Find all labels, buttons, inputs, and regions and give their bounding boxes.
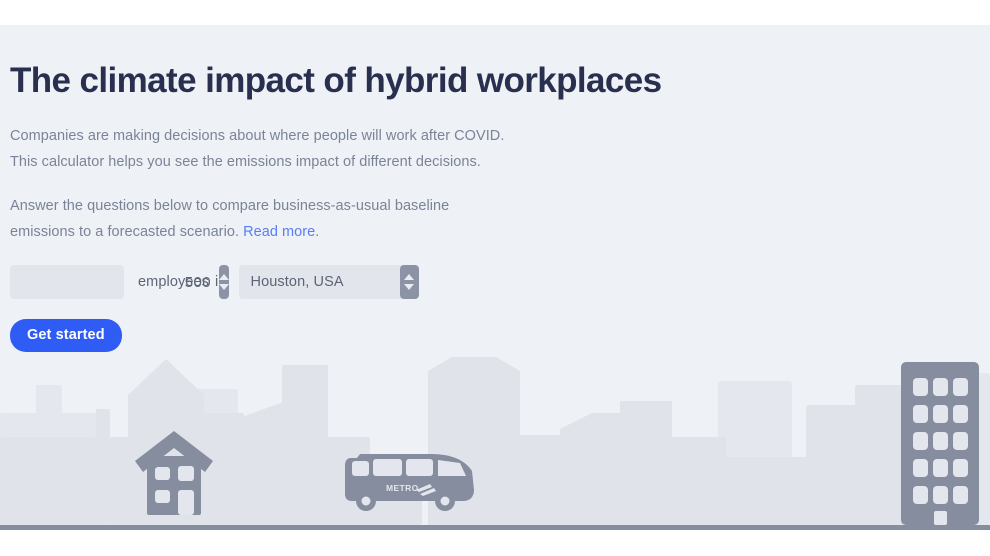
employee-count-field[interactable] [10, 265, 124, 299]
read-more-link[interactable]: Read more [243, 224, 315, 240]
read-more-period: . [315, 224, 319, 240]
caret-down-icon [404, 284, 414, 290]
intro-line-3: Answer the questions below to compare bu… [10, 198, 449, 214]
browser-viewport: METRO [0, 0, 990, 556]
get-started-button[interactable]: Get started [10, 319, 122, 352]
hero-content: The climate impact of hybrid workplaces … [0, 25, 990, 352]
caret-up-icon[interactable] [219, 274, 229, 280]
page-bottom-strip [0, 530, 990, 556]
page-canvas: METRO [0, 25, 990, 530]
intro-line-2: This calculator helps you see the emissi… [10, 154, 481, 170]
intro-paragraph-1: Companies are making decisions about whe… [10, 123, 990, 175]
select-arrows-icon[interactable] [400, 265, 419, 299]
intro-paragraph-2: Answer the questions below to compare bu… [10, 193, 990, 245]
location-select[interactable]: Houston, USA [239, 265, 419, 299]
house-icon [135, 431, 213, 515]
location-select-value: Houston, USA [239, 274, 400, 290]
bus-icon: METRO [345, 454, 474, 511]
employee-count-stepper[interactable] [219, 265, 229, 299]
bus-label: METRO [386, 483, 419, 493]
page-title: The climate impact of hybrid workplaces [10, 60, 990, 102]
browser-top-strip [0, 0, 990, 25]
scenario-inputs-row: employeesin Houston, USA [10, 265, 990, 299]
caret-up-icon [404, 274, 414, 280]
background-buildings [0, 365, 990, 525]
caret-down-icon[interactable] [219, 284, 229, 290]
midground-buildings [0, 357, 935, 525]
city-skyline-illustration: METRO [0, 345, 990, 530]
intro-line-4: emissions to a forecasted scenario. [10, 224, 243, 240]
intro-line-1: Companies are making decisions about whe… [10, 128, 504, 144]
employee-count-input[interactable] [10, 273, 219, 292]
office-building-icon [901, 362, 979, 525]
